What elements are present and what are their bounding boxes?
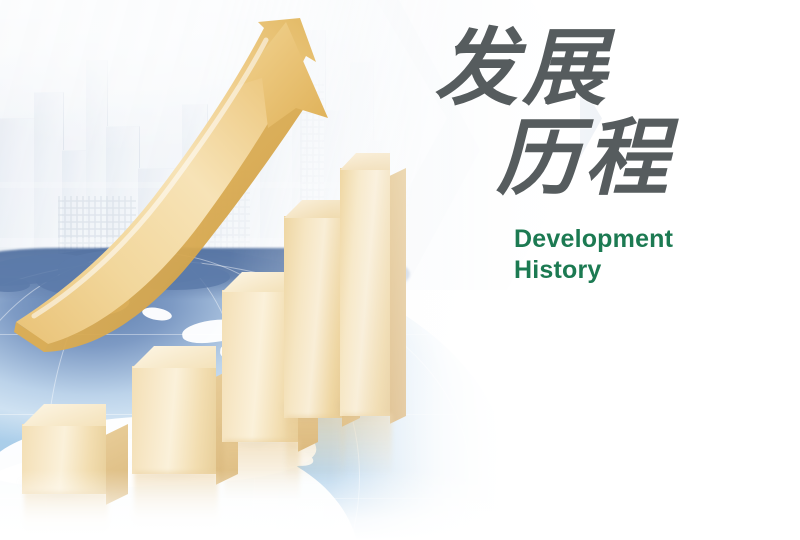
bar-5-reflection <box>342 414 392 476</box>
bar-5 <box>340 168 390 416</box>
bar-4 <box>284 216 342 418</box>
bar-2 <box>132 366 216 474</box>
title-english-line-1: Development <box>514 224 760 255</box>
bar-4-reflection <box>286 416 344 482</box>
bar-1 <box>22 424 106 494</box>
title-chinese-line-1: 发展 <box>434 28 760 112</box>
ascending-3d-bar-chart <box>0 0 460 540</box>
bar-2-reflection <box>134 472 218 528</box>
title-chinese-line-2: 历程 <box>496 118 760 202</box>
development-history-banner: 发展 历程 Development History <box>0 0 800 540</box>
title-english-line-2: History <box>514 255 760 286</box>
title-block: 发展 历程 Development History <box>430 28 760 285</box>
bar-1-reflection <box>24 492 108 536</box>
